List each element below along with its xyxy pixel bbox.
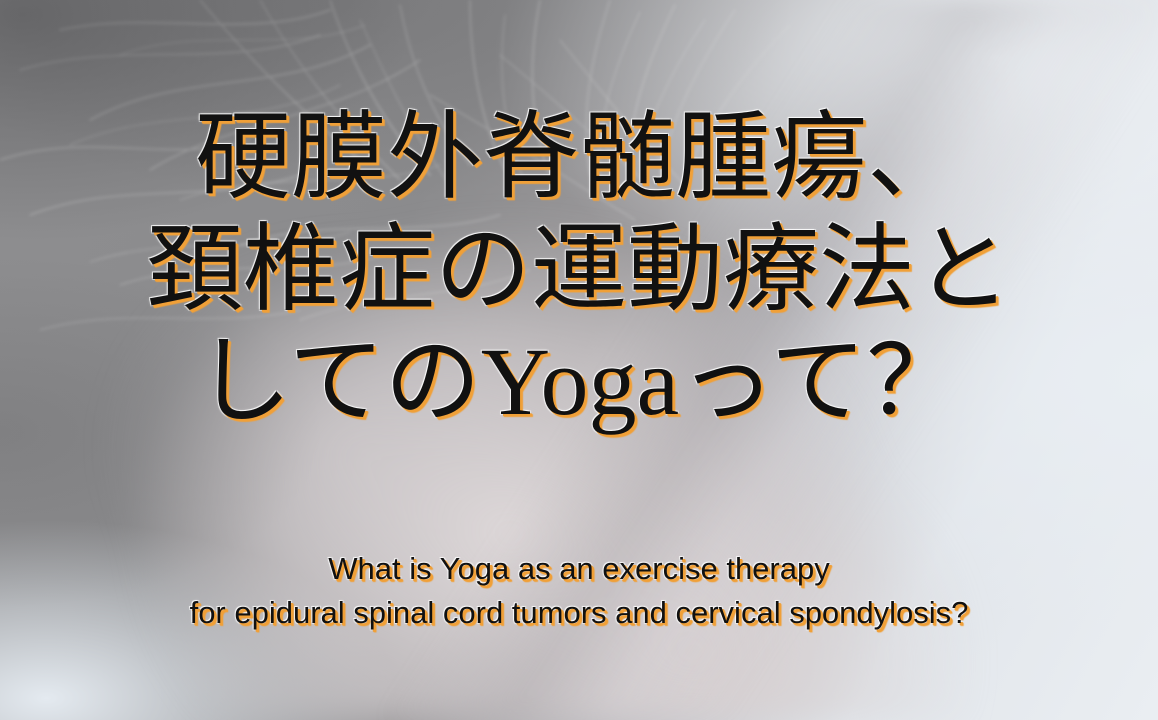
slide-content: 硬膜外脊髄腫瘍、 頚椎症の運動療法と してのYogaって？ What is Yo… — [0, 0, 1158, 720]
title-line-2: 頚椎症の運動療法と — [147, 214, 1011, 326]
slide-title: 硬膜外脊髄腫瘍、 頚椎症の運動療法と してのYogaって？ — [147, 64, 1011, 438]
slide-subtitle: What is Yoga as an exercise therapy for … — [190, 547, 969, 635]
title-line-1: 硬膜外脊髄腫瘍、 — [147, 64, 1011, 214]
subtitle-line-2: for epidural spinal cord tumors and cerv… — [190, 591, 969, 635]
title-slide: 硬膜外脊髄腫瘍、 頚椎症の運動療法と してのYogaって？ What is Yo… — [0, 0, 1158, 720]
subtitle-line-1: What is Yoga as an exercise therapy — [190, 547, 969, 591]
slide-date: 2023.11.21 -1 — [377, 712, 781, 720]
title-line-3: してのYogaって？ — [147, 326, 1011, 438]
